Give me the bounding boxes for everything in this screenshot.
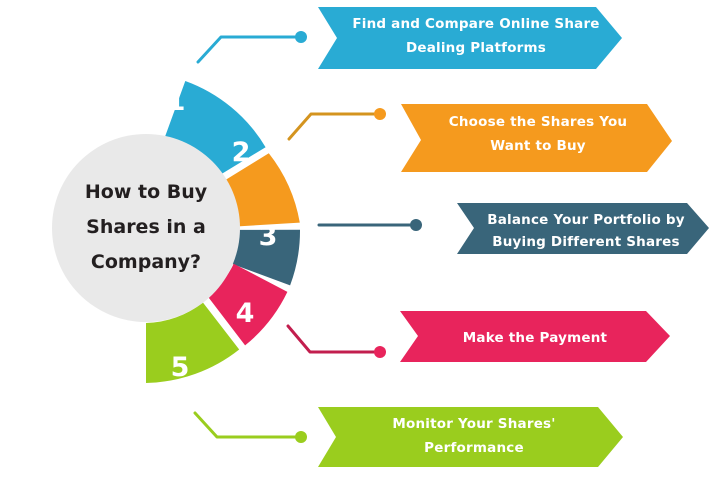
infographic-canvas: How to Buy Shares in a Company? 1 2 3 4 … <box>0 0 720 477</box>
connector-dot-3 <box>410 219 422 231</box>
connector-5 <box>195 413 307 443</box>
connector-3 <box>319 219 422 231</box>
arc-number-5: 5 <box>171 352 190 383</box>
connector-dot-5 <box>295 431 307 443</box>
infographic-svg: How to Buy Shares in a Company? 1 2 3 4 … <box>0 0 720 477</box>
connector-dot-2 <box>374 108 386 120</box>
connector-line-4 <box>288 326 378 352</box>
arc-number-3: 3 <box>259 221 278 252</box>
connector-1 <box>198 31 307 62</box>
connector-dot-1 <box>295 31 307 43</box>
banner-step-3[interactable]: Balance Your Portfolio by Buying Differe… <box>457 203 709 254</box>
arc-number-2: 2 <box>232 137 251 168</box>
connector-line-2 <box>289 114 379 139</box>
banner-step-5[interactable]: Monitor Your Shares' Performance <box>318 407 623 467</box>
center-title: How to Buy Shares in a Company? <box>85 181 208 273</box>
banner-text-2-line1: Choose the Shares You <box>449 114 628 130</box>
banner-text-1-line1: Find and Compare Online Share <box>352 16 599 32</box>
connector-line-5 <box>195 413 299 437</box>
banner-text-1-line2: Dealing Platforms <box>406 40 546 56</box>
connector-2 <box>289 108 386 139</box>
banner-step-2[interactable]: Choose the Shares You Want to Buy <box>401 104 672 172</box>
arc-number-4: 4 <box>236 298 255 329</box>
banner-text-5-line1: Monitor Your Shares' <box>392 416 555 432</box>
connector-line-1 <box>198 37 300 62</box>
banner-text-5-line2: Performance <box>424 440 524 456</box>
banner-text-3-line1: Balance Your Portfolio by <box>487 212 685 228</box>
center-title-line3: Company? <box>91 251 201 273</box>
connector-4 <box>288 326 386 358</box>
center-title-line2: Shares in a <box>86 216 206 238</box>
arc-number-1: 1 <box>167 86 186 117</box>
banner-text-3-line2: Buying Different Shares <box>492 234 680 250</box>
connector-dot-4 <box>374 346 386 358</box>
banner-text-4-line1: Make the Payment <box>463 330 608 346</box>
banner-step-1[interactable]: Find and Compare Online Share Dealing Pl… <box>318 7 622 69</box>
banner-step-4[interactable]: Make the Payment <box>400 311 670 362</box>
banner-text-2-line2: Want to Buy <box>490 138 586 154</box>
center-title-line1: How to Buy <box>85 181 208 203</box>
